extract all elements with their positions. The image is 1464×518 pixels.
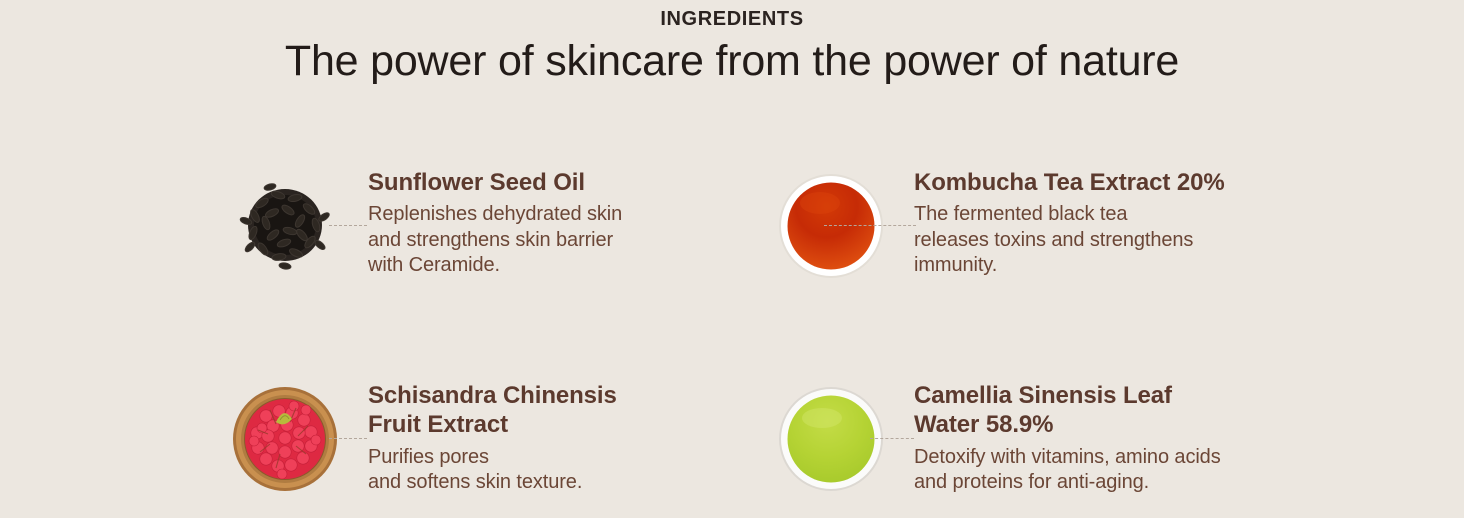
- ingredient-title: Sunflower Seed Oil: [368, 168, 622, 197]
- ingredient-title-line: Fruit Extract: [368, 411, 508, 438]
- ingredients-page: INGREDIENTS The power of skincare from t…: [0, 0, 1464, 518]
- ingredient-description-line: The fermented black tea: [914, 202, 1225, 228]
- ingredient-description: Replenishes dehydrated skin and strength…: [368, 202, 622, 279]
- ingredient-description: The fermented black tea releases toxins …: [914, 202, 1225, 279]
- ingredient-description-line: Purifies pores: [368, 445, 617, 471]
- ingredient-description-line: and strengthens skin barrier: [368, 228, 622, 254]
- ingredient-card-kombucha-tea-extract: Kombucha Tea Extract 20% The fermented b…: [774, 162, 1334, 284]
- ingredient-description: Purifies pores and softens skin texture.: [368, 445, 617, 496]
- ingredient-description-line: Detoxify with vitamins, amino acids: [914, 445, 1221, 471]
- ingredient-media: [228, 162, 346, 284]
- ingredient-description-line: with Ceramide.: [368, 253, 622, 279]
- camellia-leaf-water-bowl-image: [778, 386, 884, 492]
- connector-dashed-line: [329, 225, 367, 226]
- page-header: INGREDIENTS The power of skincare from t…: [0, 0, 1464, 87]
- section-eyebrow-label: INGREDIENTS: [0, 8, 1464, 30]
- ingredient-media: [774, 375, 892, 497]
- ingredient-title: Kombucha Tea Extract 20%: [914, 168, 1225, 197]
- ingredient-description-line: and softens skin texture.: [368, 470, 617, 496]
- ingredient-media: [774, 162, 892, 284]
- schisandra-berries-bowl-image: [232, 386, 338, 492]
- ingredient-title: Schisandra Chinensis Fruit Extract: [368, 381, 617, 440]
- ingredient-copy: Camellia Sinensis Leaf Water 58.9% Detox…: [892, 375, 1221, 496]
- ingredient-copy: Sunflower Seed Oil Replenishes dehydrate…: [346, 162, 622, 279]
- ingredient-media: [228, 375, 346, 497]
- ingredient-description-line: Replenishes dehydrated skin: [368, 202, 622, 228]
- connector-dashed-line: [870, 438, 914, 439]
- ingredient-card-camellia-sinensis-leaf-water: Camellia Sinensis Leaf Water 58.9% Detox…: [774, 375, 1334, 497]
- ingredient-title-line: Camellia Sinensis Leaf: [914, 382, 1172, 409]
- ingredient-card-schisandra-chinensis: Schisandra Chinensis Fruit Extract Purif…: [228, 375, 698, 497]
- ingredient-copy: Schisandra Chinensis Fruit Extract Purif…: [346, 375, 617, 496]
- ingredient-title-line: Schisandra Chinensis: [368, 382, 617, 409]
- ingredient-description-line: releases toxins and strengthens: [914, 228, 1225, 254]
- page-title: The power of skincare from the power of …: [0, 36, 1464, 87]
- ingredient-card-sunflower-seed-oil: Sunflower Seed Oil Replenishes dehydrate…: [228, 162, 698, 284]
- ingredient-title-line: Water 58.9%: [914, 411, 1053, 438]
- ingredient-description-line: and proteins for anti-aging.: [914, 470, 1221, 496]
- sunflower-seeds-image: [232, 173, 338, 279]
- ingredient-title: Camellia Sinensis Leaf Water 58.9%: [914, 381, 1221, 440]
- ingredient-description-line: immunity.: [914, 253, 1225, 279]
- connector-dashed-line: [329, 438, 367, 439]
- ingredients-grid: Sunflower Seed Oil Replenishes dehydrate…: [0, 150, 1464, 518]
- ingredient-description: Detoxify with vitamins, amino acids and …: [914, 445, 1221, 496]
- ingredient-copy: Kombucha Tea Extract 20% The fermented b…: [892, 162, 1225, 279]
- connector-dashed-line: [824, 225, 916, 226]
- kombucha-tea-bowl-image: [778, 173, 884, 279]
